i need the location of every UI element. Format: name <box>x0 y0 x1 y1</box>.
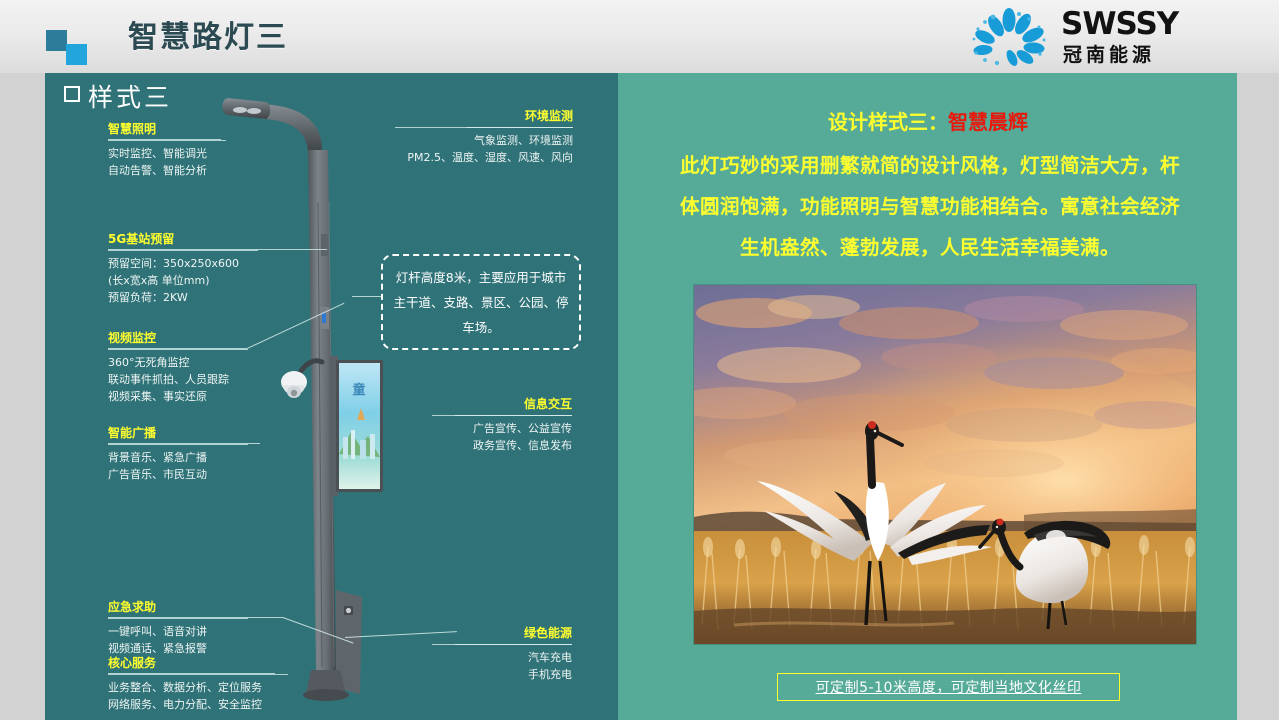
feature-video-surveillance: 视频监控 360°无死角监控 联动事件抓拍、人员跟踪 视频采集、事实还原 <box>108 331 248 405</box>
feature-line: 自动告警、智能分析 <box>108 162 226 179</box>
feature-line: 一键呼叫、语音对讲 <box>108 623 248 640</box>
svg-text:童: 童 <box>352 382 365 398</box>
page-title: 智慧路灯三 <box>128 18 288 58</box>
logo-wordmark: SWSSY <box>1061 6 1178 42</box>
feature-info-interaction: 信息交互 广告宣传、公益宣传 政务宣传、信息发布 <box>432 397 572 454</box>
logo-petal-icon <box>963 8 1055 66</box>
customization-note-text: 可定制5-10米高度，可定制当地文化丝印 <box>816 677 1082 697</box>
feature-line: 广告音乐、市民互动 <box>108 466 248 483</box>
feature-rule <box>108 674 288 675</box>
slide-header: 智慧路灯三 SWSSY 冠南能 <box>0 0 1279 73</box>
feature-line: PM2.5、温度、湿度、风速、风向 <box>395 149 573 166</box>
description-line: 生机盎然、蓬勃发展，人民生活幸福美满。 <box>632 227 1228 268</box>
brand-logo: SWSSY 冠南能源 <box>963 6 1213 68</box>
feature-title: 5G基站预留 <box>108 232 258 249</box>
description-line: 此灯巧妙的采用删繁就简的设计风格，灯型简洁大方，杆 <box>632 145 1228 186</box>
feature-line: 联动事件抓拍、人员跟踪 <box>108 371 248 388</box>
feature-green-energy: 绿色能源 汽车充电 手机充电 <box>432 626 572 683</box>
accent-square-dark <box>46 30 67 51</box>
feature-line: 预留空间：350x250x600 <box>108 255 258 272</box>
feature-core-services: 核心服务 业务整合、数据分析、定位服务 网络服务、电力分配、安全监控 <box>108 656 288 713</box>
feature-rule <box>108 444 248 445</box>
feature-rule <box>108 349 248 350</box>
feature-rule <box>432 644 572 645</box>
feature-rule <box>108 140 226 141</box>
feature-title: 信息交互 <box>432 397 572 414</box>
feature-title: 应急求助 <box>108 600 248 617</box>
design-style-heading: 设计样式三：智慧晨辉 <box>638 108 1218 136</box>
logo-chinese-name: 冠南能源 <box>1063 40 1155 67</box>
square-bullet-icon <box>64 86 80 102</box>
description-line: 体圆润饱满，功能照明与智慧功能相结合。寓意社会经济 <box>632 186 1228 227</box>
feature-rule <box>108 250 258 251</box>
feature-line: 业务整合、数据分析、定位服务 <box>108 679 288 696</box>
feature-smart-broadcast: 智能广播 背景音乐、紧急广播 广告音乐、市民互动 <box>108 426 248 483</box>
feature-rule <box>108 618 248 619</box>
feature-line: (长x宽x高 单位mm) <box>108 272 258 289</box>
crane-sunset-artwork <box>694 285 1197 645</box>
callout-text: 灯杆高度8米，主要应用于城市主干道、支路、景区、公园、停车场。 <box>383 265 579 340</box>
feature-title: 智慧照明 <box>108 122 226 139</box>
design-description: 此灯巧妙的采用删繁就简的设计风格，灯型简洁大方，杆 体圆润饱满，功能照明与智慧功… <box>632 145 1228 268</box>
feature-environment-monitoring: 环境监测 气象监测、环境监测 PM2.5、温度、湿度、风速、风向 <box>395 109 573 166</box>
feature-rule <box>432 415 572 416</box>
feature-line: 实时监控、智能调光 <box>108 145 226 162</box>
pole-height-callout: 灯杆高度8米，主要应用于城市主干道、支路、景区、公园、停车场。 <box>381 254 581 350</box>
feature-title: 环境监测 <box>395 109 573 126</box>
design-style-name: 智慧晨辉 <box>948 110 1028 134</box>
style-heading: 样式三 <box>88 78 172 114</box>
crane-sunset-photo <box>693 284 1197 645</box>
feature-line: 视频通话、紧急报警 <box>108 640 248 657</box>
feature-line: 视频采集、事实还原 <box>108 388 248 405</box>
feature-rule <box>395 127 573 128</box>
feature-line: 360°无死角监控 <box>108 354 248 371</box>
feature-emergency-help: 应急求助 一键呼叫、语音对讲 视频通话、紧急报警 <box>108 600 248 657</box>
feature-line: 广告宣传、公益宣传 <box>432 420 572 437</box>
feature-title: 智能广播 <box>108 426 248 443</box>
feature-line: 手机充电 <box>432 666 572 683</box>
feature-title: 视频监控 <box>108 331 248 348</box>
feature-title: 核心服务 <box>108 656 288 673</box>
feature-smart-lighting: 智慧照明 实时监控、智能调光 自动告警、智能分析 <box>108 122 226 179</box>
feature-title: 绿色能源 <box>432 626 572 643</box>
design-style-prefix: 设计样式三： <box>828 110 948 134</box>
customization-note-box: 可定制5-10米高度，可定制当地文化丝印 <box>777 673 1120 701</box>
accent-square-light <box>66 44 87 65</box>
feature-line: 政务宣传、信息发布 <box>432 437 572 454</box>
feature-line: 预留负荷：2KW <box>108 289 258 306</box>
feature-line: 网络服务、电力分配、安全监控 <box>108 696 288 713</box>
feature-line: 汽车充电 <box>432 649 572 666</box>
feature-line: 背景音乐、紧急广播 <box>108 449 248 466</box>
connector-line <box>352 296 382 297</box>
feature-line: 气象监测、环境监测 <box>395 132 573 149</box>
feature-5g-reserve: 5G基站预留 预留空间：350x250x600 (长x宽x高 单位mm) 预留负… <box>108 232 258 306</box>
